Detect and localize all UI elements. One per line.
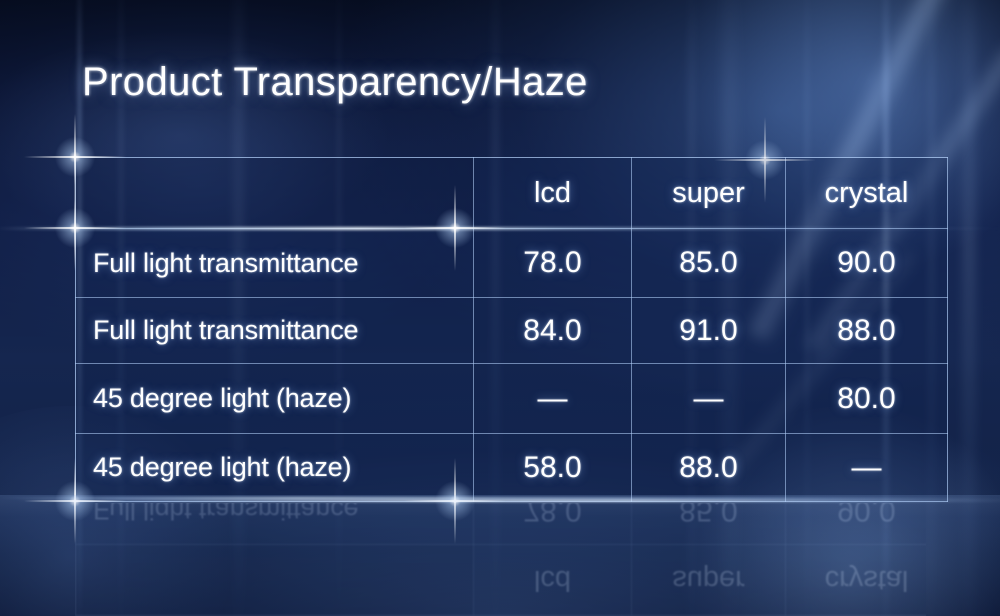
table-body: Full light transmittance 78.0 85.0 90.0 … [76, 229, 948, 502]
table-header-row: lcd super crystal [76, 158, 948, 229]
cell-crystal: 80.0 [786, 364, 948, 434]
cell-super: 85.0 [632, 229, 786, 298]
header-corner-blank [76, 158, 474, 229]
row-label: Full light transmittance [76, 298, 474, 364]
cell-crystal: 88.0 [786, 298, 948, 364]
row-label: 45 degree light (haze) [76, 434, 474, 502]
cell-lcd: 58.0 [474, 434, 632, 502]
cell-super: — [632, 364, 786, 434]
table-head: lcd super crystal [76, 158, 948, 229]
table-row: 45 degree light (haze) — — 80.0 [76, 364, 948, 434]
cell-lcd: 84.0 [474, 298, 632, 364]
cell-super: 88.0 [632, 434, 786, 502]
table-row: Full light transmittance 84.0 91.0 88.0 [76, 298, 948, 364]
data-table-container: lcd super crystal Full light transmittan… [75, 157, 926, 501]
cell-crystal: 90.0 [786, 229, 948, 298]
row-label: Full light transmittance [76, 229, 474, 298]
cell-lcd: — [474, 364, 632, 434]
column-header-crystal: crystal [786, 158, 948, 229]
floor-horizon-line [0, 497, 1000, 499]
cell-crystal: — [786, 434, 948, 502]
page-title: Product Transparency/Haze [82, 60, 588, 105]
table-row: 45 degree light (haze) 58.0 88.0 — [76, 434, 948, 502]
cell-lcd: 78.0 [474, 229, 632, 298]
floor-band [0, 495, 1000, 616]
data-table: lcd super crystal Full light transmittan… [75, 157, 948, 502]
slide-canvas: Product Transparency/Haze lcd super crys… [0, 0, 1000, 616]
column-header-super: super [632, 158, 786, 229]
cell-super: 91.0 [632, 298, 786, 364]
row-label: 45 degree light (haze) [76, 364, 474, 434]
column-header-lcd: lcd [474, 158, 632, 229]
table-row: Full light transmittance 78.0 85.0 90.0 [76, 229, 948, 298]
